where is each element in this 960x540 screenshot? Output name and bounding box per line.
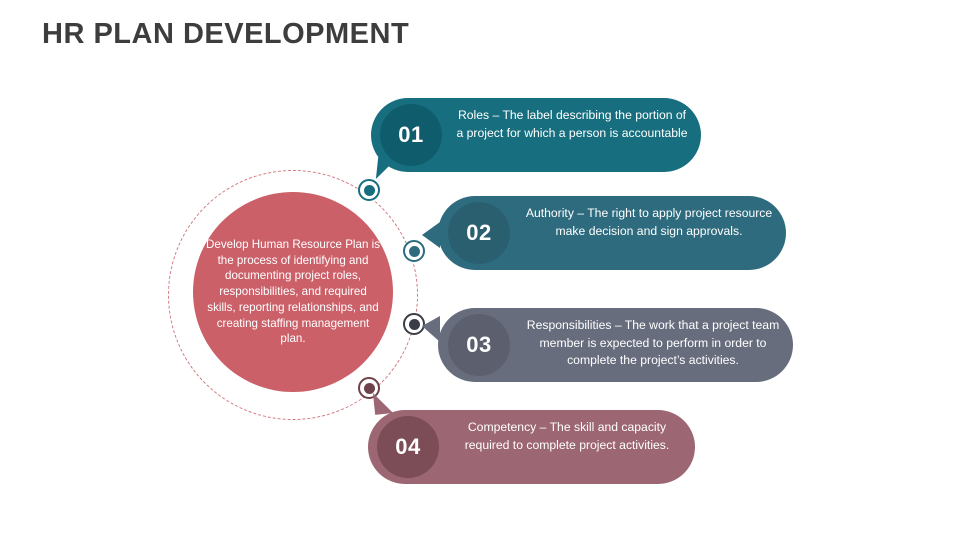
callout-item-01[interactable]: 01 Roles – The label describing the port… — [371, 98, 701, 172]
dot-ring-icon — [358, 179, 380, 201]
callout-number-badge: 01 — [380, 104, 442, 166]
central-circle-text: Develop Human Resource Plan is the proce… — [205, 237, 381, 348]
central-circle: Develop Human Resource Plan is the proce… — [193, 192, 393, 392]
connector-dot-01 — [358, 179, 380, 201]
callout-description: Competency – The skill and capacity requ… — [448, 419, 686, 454]
callout-item-03[interactable]: 03 Responsibilities – The work that a pr… — [438, 308, 793, 382]
callout-number-badge: 03 — [448, 314, 510, 376]
callout-description: Roles – The label describing the portion… — [453, 107, 691, 142]
page-title: HR PLAN DEVELOPMENT — [42, 18, 409, 51]
callout-number-badge: 04 — [377, 416, 439, 478]
callout-description: Responsibilities – The work that a proje… — [522, 317, 784, 370]
callout-number-badge: 02 — [448, 202, 510, 264]
callout-description: Authority – The right to apply project r… — [522, 205, 776, 240]
callout-tail-icon — [422, 316, 440, 342]
central-circle-group: Develop Human Resource Plan is the proce… — [168, 170, 418, 420]
callout-item-02[interactable]: 02 Authority – The right to apply projec… — [438, 196, 786, 270]
callout-item-04[interactable]: 04 Competency – The skill and capacity r… — [368, 410, 695, 484]
callout-tail-icon — [373, 391, 393, 415]
